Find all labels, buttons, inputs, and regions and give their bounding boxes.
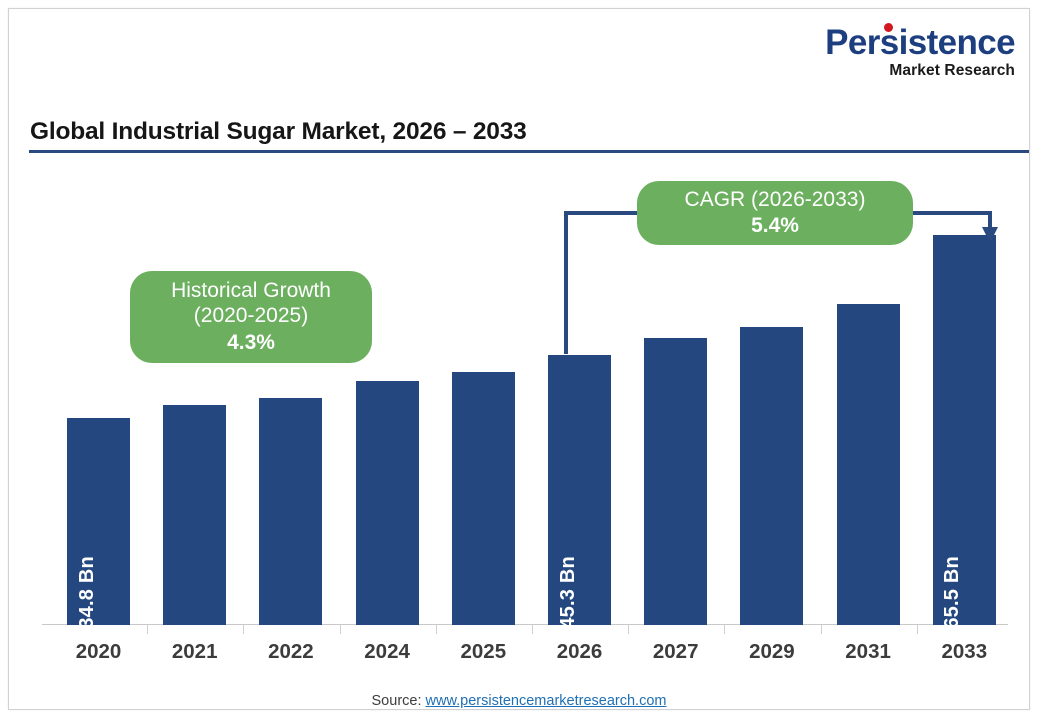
bar-2024 — [356, 381, 419, 625]
bar-2022 — [259, 398, 322, 625]
x-axis-tick-2026 — [532, 625, 533, 634]
bar-2020: US$ 34.8 Bn — [67, 418, 130, 625]
bar-2025 — [452, 372, 515, 625]
x-axis-tick-2029 — [724, 625, 725, 634]
x-axis-tick-2022 — [243, 625, 244, 634]
bar-chart: US$ 34.8 BnUS$ 45.3 BnUS$ 65.5 Bn 202020… — [9, 9, 1031, 711]
historical-growth-callout: Historical Growth (2020-2025) 4.3% — [130, 271, 372, 363]
source-line: Source: www.persistencemarketresearch.co… — [9, 693, 1029, 709]
x-axis-label-2025: 2025 — [436, 640, 531, 664]
chart-card: Persistence Market Research Global Indus… — [8, 8, 1030, 710]
cagr-callout: CAGR (2026-2033) 5.4% — [637, 181, 913, 245]
x-axis-tick-2024 — [340, 625, 341, 634]
bar-2033: US$ 65.5 Bn — [933, 235, 996, 625]
x-axis-tick-2033 — [917, 625, 918, 634]
cagr-value: 5.4% — [751, 213, 799, 239]
x-axis-label-2024: 2024 — [340, 640, 435, 664]
x-axis-tick-2031 — [821, 625, 822, 634]
historical-growth-line1: Historical Growth — [171, 278, 331, 304]
x-axis-label-2031: 2031 — [821, 640, 916, 664]
x-axis-tick-2025 — [436, 625, 437, 634]
historical-growth-line2: (2020-2025) — [194, 303, 308, 329]
bar-2029 — [740, 327, 803, 625]
bar-2021 — [163, 405, 226, 625]
x-axis-tick-2021 — [147, 625, 148, 634]
bar-2027 — [644, 338, 707, 625]
x-axis-label-2020: 2020 — [51, 640, 146, 664]
bar-2026: US$ 45.3 Bn — [548, 355, 611, 625]
x-axis-label-2027: 2027 — [628, 640, 723, 664]
source-link[interactable]: www.persistencemarketresearch.com — [426, 693, 667, 709]
bar-2031 — [837, 304, 900, 625]
x-axis-label-2021: 2021 — [147, 640, 242, 664]
x-axis-label-2029: 2029 — [724, 640, 819, 664]
x-axis-label-2026: 2026 — [532, 640, 627, 664]
cagr-line1: CAGR (2026-2033) — [685, 187, 866, 213]
source-prefix: Source: — [372, 693, 426, 709]
x-axis-label-2033: 2033 — [917, 640, 1012, 664]
x-axis-tick-2027 — [628, 625, 629, 634]
historical-growth-value: 4.3% — [227, 330, 275, 356]
x-axis-label-2022: 2022 — [243, 640, 338, 664]
